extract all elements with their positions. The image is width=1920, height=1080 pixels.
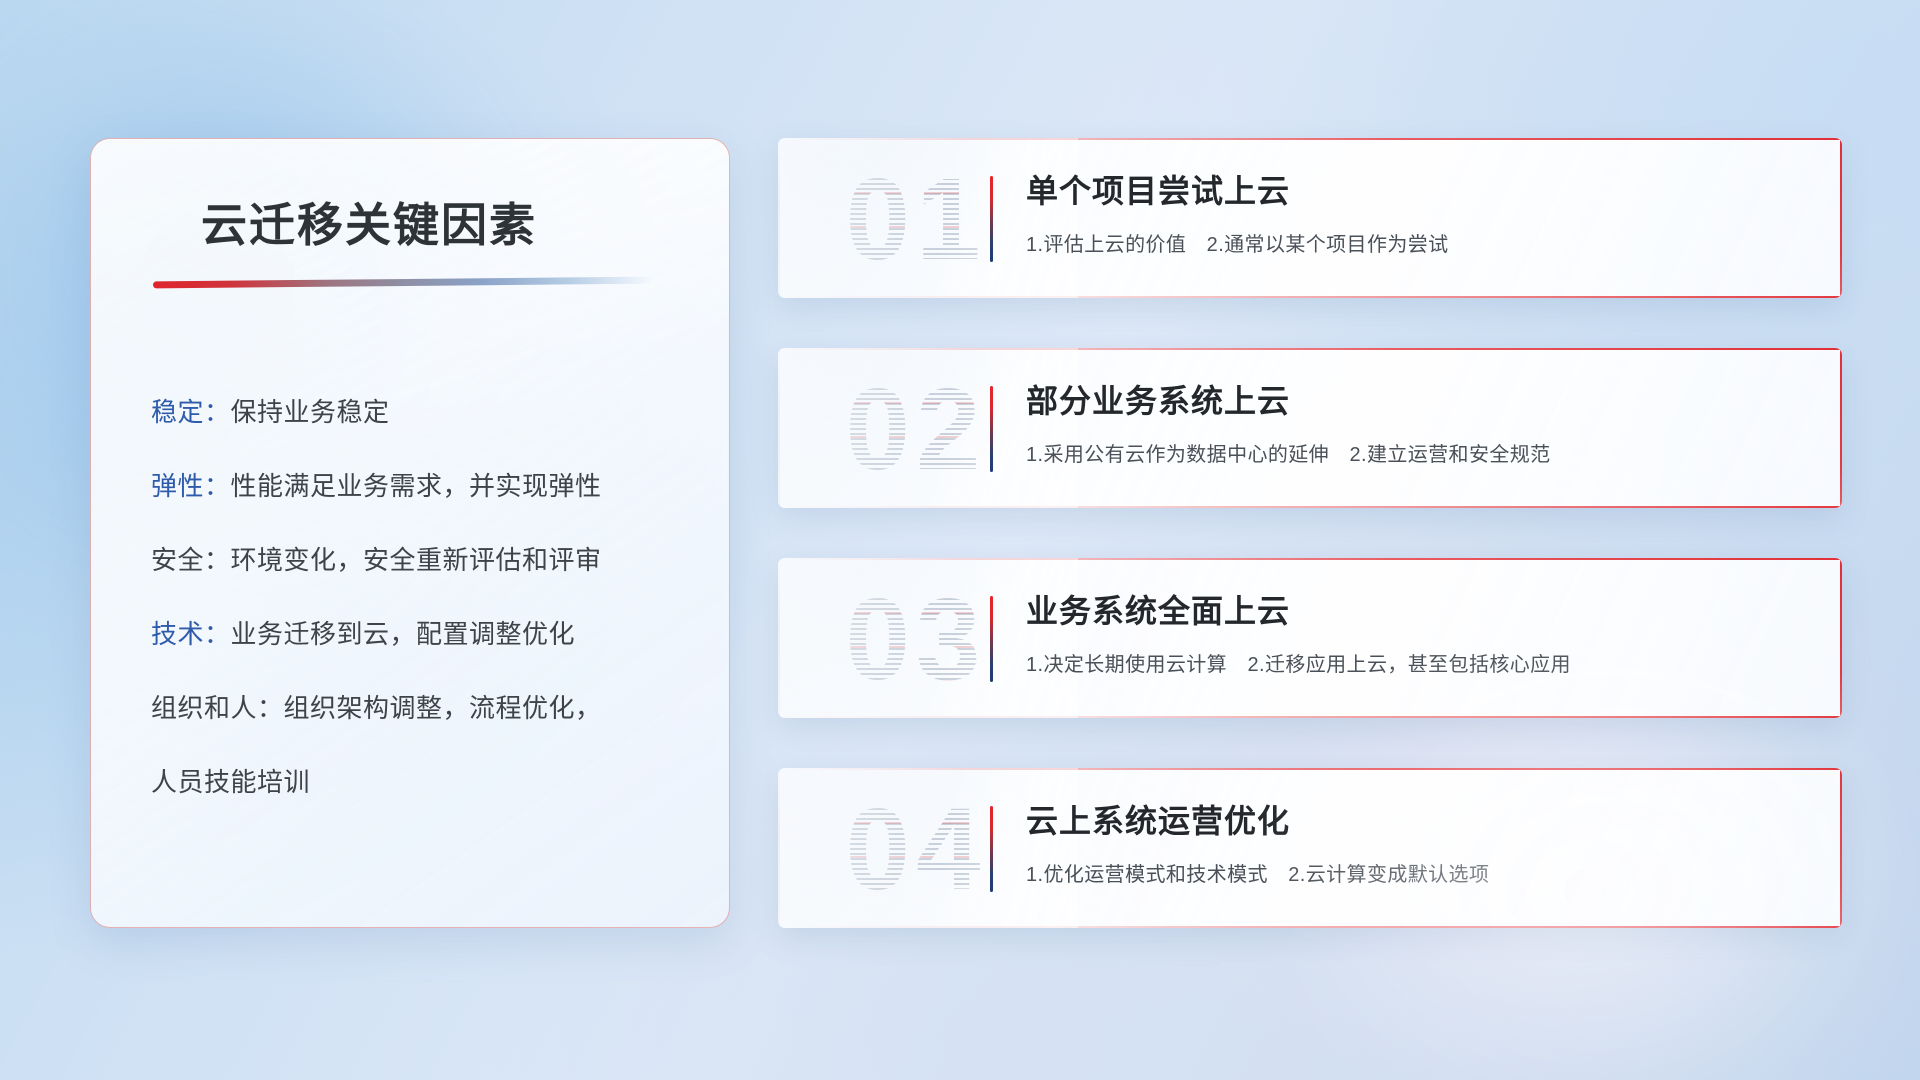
list-item-content: 保持业务稳定	[231, 397, 390, 427]
step-number-ghost-tint: 02	[796, 358, 1036, 500]
card-edge-right	[1840, 768, 1842, 928]
list-item-content: 业务迁移到云，配置调整优化	[231, 619, 576, 649]
list-item-label: 弹性：	[151, 471, 231, 501]
step-description: 1.评估上云的价值 2.通常以某个项目作为尝试	[1026, 228, 1449, 257]
step-card-01[interactable]: 01 01 单个项目尝试上云 1.评估上云的价值 2.通常以某个项目作为尝试	[778, 138, 1842, 298]
step-number-ghost-tint: 01	[796, 148, 1036, 290]
card-edge-top	[778, 558, 1842, 560]
list-item: 稳定：保持业务稳定	[151, 375, 691, 449]
list-item-content: 组织架构调整，流程优化，	[284, 693, 602, 723]
step-title: 部分业务系统上云	[1026, 376, 1290, 422]
list-item-label: 稳定：	[151, 397, 231, 427]
list-item: 安全：环境变化，安全重新评估和评审	[151, 523, 691, 597]
card-edge-bottom	[778, 506, 1842, 508]
list-item-label: 安全：	[151, 545, 231, 575]
card-edge-top	[778, 138, 1842, 140]
list-item: 人员技能培训	[151, 745, 691, 819]
list-item: 技术：业务迁移到云，配置调整优化	[151, 597, 691, 671]
list-item-content: 人员技能培训	[151, 767, 310, 797]
step-number-ghost-tint: 04	[796, 778, 1036, 920]
card-edge-right	[1840, 348, 1842, 508]
card-edge-top	[778, 768, 1842, 770]
step-divider-accent	[990, 176, 993, 262]
list-item-content: 性能满足业务需求，并实现弹性	[231, 471, 602, 501]
step-description: 1.优化运营模式和技术模式 2.云计算变成默认选项	[1026, 858, 1489, 887]
card-edge-right	[1840, 138, 1842, 298]
step-card-03[interactable]: 03 03 业务系统全面上云 1.决定长期使用云计算 2.迁移应用上云，甚至包括…	[778, 558, 1842, 718]
list-item-content: 环境变化，安全重新评估和评审	[231, 545, 602, 575]
key-factors-panel: 云迁移关键因素 稳定：保持业务稳定 弹性：性能满足业务需求，并实现弹性 安全：环…	[90, 138, 730, 928]
step-divider-accent	[990, 386, 993, 472]
card-edge-right	[1840, 558, 1842, 718]
list-item-label: 组织和人：	[151, 693, 284, 723]
migration-steps-list: 01 01 单个项目尝试上云 1.评估上云的价值 2.通常以某个项目作为尝试 0…	[778, 138, 1842, 978]
card-edge-top	[778, 348, 1842, 350]
list-item: 组织和人：组织架构调整，流程优化，	[151, 671, 691, 745]
list-item-label: 技术：	[151, 619, 231, 649]
card-edge-left	[778, 558, 780, 718]
card-edge-bottom	[778, 926, 1842, 928]
card-edge-bottom	[778, 716, 1842, 718]
step-divider-accent	[990, 806, 993, 892]
step-title: 单个项目尝试上云	[1026, 166, 1290, 212]
card-edge-left	[778, 138, 780, 298]
card-edge-left	[778, 768, 780, 928]
card-edge-left	[778, 348, 780, 508]
card-edge-bottom	[778, 296, 1842, 298]
slide-canvas: 云迁移关键因素 稳定：保持业务稳定 弹性：性能满足业务需求，并实现弹性 安全：环…	[0, 0, 1920, 1080]
key-factors-list: 稳定：保持业务稳定 弹性：性能满足业务需求，并实现弹性 安全：环境变化，安全重新…	[151, 375, 691, 819]
step-card-02[interactable]: 02 02 部分业务系统上云 1.采用公有云作为数据中心的延伸 2.建立运营和安…	[778, 348, 1842, 508]
step-title: 业务系统全面上云	[1026, 586, 1290, 632]
list-item: 弹性：性能满足业务需求，并实现弹性	[151, 449, 691, 523]
step-divider-accent	[990, 596, 993, 682]
step-description: 1.决定长期使用云计算 2.迁移应用上云，甚至包括核心应用	[1026, 648, 1571, 677]
title-underline-accent	[153, 277, 653, 289]
step-number-ghost-tint: 03	[796, 568, 1036, 710]
step-title: 云上系统运营优化	[1026, 796, 1290, 842]
step-card-04[interactable]: 04 04 云上系统运营优化 1.优化运营模式和技术模式 2.云计算变成默认选项	[778, 768, 1842, 928]
page-title: 云迁移关键因素	[201, 189, 537, 255]
step-description: 1.采用公有云作为数据中心的延伸 2.建立运营和安全规范	[1026, 438, 1551, 467]
